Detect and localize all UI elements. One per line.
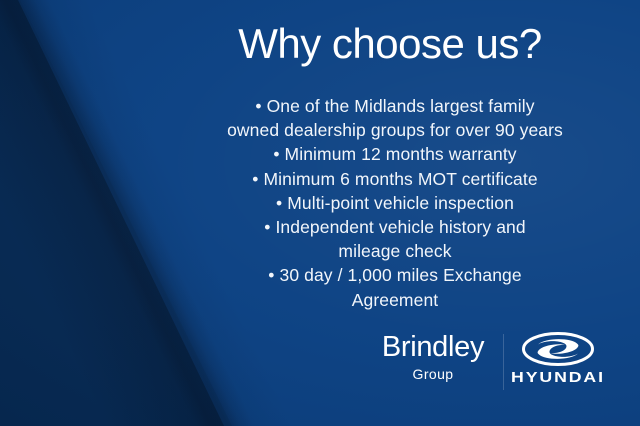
benefit-line: • Minimum 12 months warranty: [190, 142, 600, 166]
benefit-line: • One of the Midlands largest family: [190, 94, 600, 118]
benefit-line: • Multi-point vehicle inspection: [190, 191, 600, 215]
hyundai-logo: HYUNDAI: [508, 332, 608, 386]
logo-row: Brindley Group HYUNDAI: [360, 330, 610, 398]
benefit-line: • Independent vehicle history and: [190, 215, 600, 239]
benefit-line: • Minimum 6 months MOT certificate: [190, 167, 600, 191]
headline: Why choose us?: [180, 22, 600, 66]
benefit-line: owned dealership groups for over 90 year…: [190, 118, 600, 142]
promo-banner: Why choose us? • One of the Midlands lar…: [0, 0, 640, 426]
brindley-wordmark: Brindley: [368, 330, 498, 364]
benefit-line: • 30 day / 1,000 miles Exchange: [190, 263, 600, 287]
benefit-line: Agreement: [190, 288, 600, 312]
benefit-line: mileage check: [190, 239, 600, 263]
hyundai-wordmark: HYUNDAI: [499, 369, 617, 386]
brindley-group-logo: Brindley Group: [368, 330, 498, 384]
banner-content: Why choose us? • One of the Midlands lar…: [0, 0, 640, 426]
hyundai-emblem-icon: [522, 332, 594, 366]
benefits-list: • One of the Midlands largest family own…: [190, 94, 600, 312]
brindley-group-subtext: Group: [368, 364, 498, 384]
